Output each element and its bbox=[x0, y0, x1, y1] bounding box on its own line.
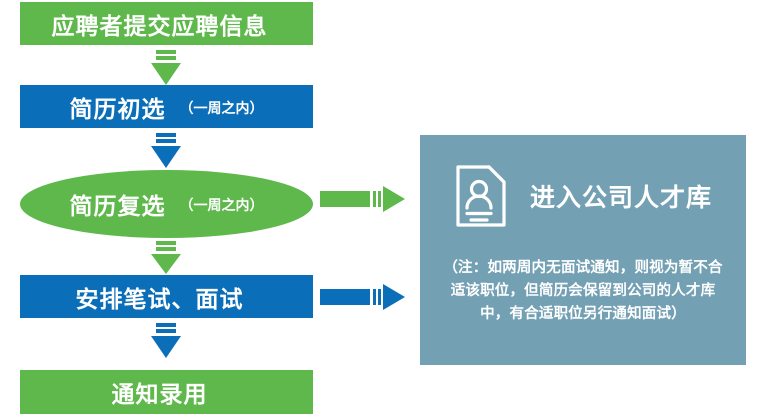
arrow-interview-to-talentpool bbox=[320, 284, 406, 310]
flow-node-notify-hire[interactable]: 通知录用 bbox=[20, 370, 313, 414]
flow-node-label: 安排笔试、面试 bbox=[76, 280, 244, 314]
flow-node-label: 应聘者提交应聘信息 bbox=[52, 7, 268, 41]
arrow-first-to-second bbox=[143, 133, 189, 169]
flow-node-submit-application[interactable]: 应聘者提交应聘信息 bbox=[20, 2, 313, 45]
flow-node-label: 简历初选 bbox=[70, 90, 166, 124]
flow-node-resume-second-screening[interactable]: 简历复选 （一周之内） bbox=[20, 170, 313, 238]
talent-pool-title: 进入公司人才库 bbox=[530, 178, 712, 214]
flow-node-sublabel: （一周之内） bbox=[180, 195, 264, 215]
flow-node-sublabel: （一周之内） bbox=[180, 98, 264, 118]
resume-person-document-icon bbox=[454, 163, 508, 229]
flow-node-label: 通知录用 bbox=[112, 375, 208, 409]
talent-pool-header: 进入公司人才库 bbox=[420, 153, 746, 239]
flow-node-arrange-written-and-interview[interactable]: 安排笔试、面试 bbox=[20, 275, 313, 318]
arrow-interview-to-hire bbox=[143, 323, 189, 359]
arrow-submit-to-first bbox=[143, 50, 189, 86]
arrow-second-to-interview bbox=[143, 241, 189, 275]
talent-pool-panel[interactable]: 进入公司人才库 （注：如两周内无面试通知，则视为暂不合适该职位，但简历会保留到公… bbox=[420, 135, 746, 365]
arrow-second-to-talentpool bbox=[320, 186, 406, 212]
flow-node-resume-first-screening[interactable]: 简历初选 （一周之内） bbox=[20, 85, 313, 128]
talent-pool-note: （注：如两周内无面试通知，则视为暂不合适该职位，但简历会保留到公司的人才库中，有… bbox=[438, 257, 728, 326]
flow-node-label: 简历复选 bbox=[70, 187, 166, 221]
flowchart-canvas: 应聘者提交应聘信息 简历初选 （一周之内） 简历复选 （一周之内） 安排笔试、面… bbox=[0, 0, 769, 418]
